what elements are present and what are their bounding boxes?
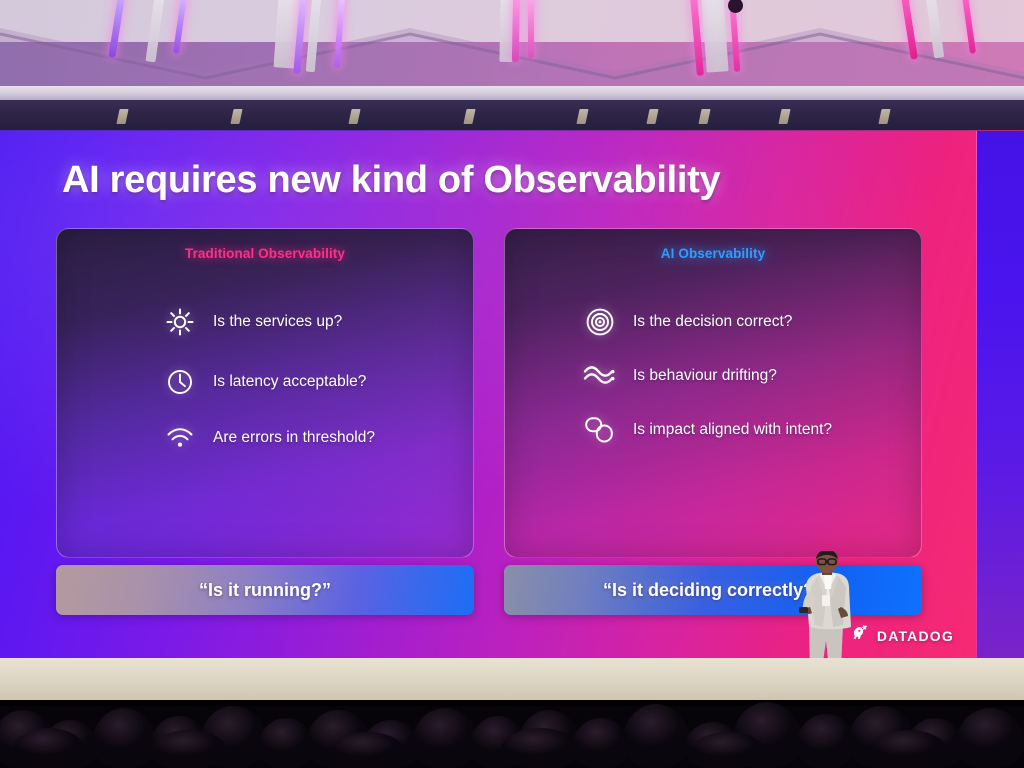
divider-slat (348, 109, 360, 124)
divider-slat (778, 109, 790, 124)
clock-icon (163, 365, 197, 399)
panel-traditional-observability: Traditional Observability Is the service… (56, 228, 474, 558)
conference-photo: AI requires new kind of Observability Tr… (0, 0, 1024, 768)
wall-right-of-screen (976, 131, 1024, 662)
slide-title: AI requires new kind of Observability (62, 159, 922, 202)
bullseye-target-icon (583, 305, 617, 339)
sun-gear-icon (163, 305, 197, 339)
list-item: Is the services up? (163, 305, 474, 339)
list-item: Is behaviour drifting? (583, 359, 922, 393)
list-item-label: Is impact aligned with intent? (633, 420, 832, 440)
list-item: Is impact aligned with intent? (583, 413, 922, 447)
list-item: Is the decision correct? (583, 305, 922, 339)
divider-slat (463, 109, 475, 124)
banner-traditional: “Is it running?” (56, 565, 474, 615)
divider-slat (698, 109, 710, 124)
ceiling-light-tube (528, 0, 534, 58)
list-item-label: Is the decision correct? (633, 312, 792, 332)
panel-heading-ai: AI Observability (505, 246, 921, 261)
panels-row: Traditional Observability Is the service… (56, 228, 922, 558)
wifi-signal-icon (163, 421, 197, 455)
divider-slat (646, 109, 658, 124)
overlapping-shapes-icon (583, 413, 617, 447)
datadog-wordmark: DATADOG (877, 628, 954, 644)
list-item-label: Is behaviour drifting? (633, 366, 777, 386)
divider-slat (576, 109, 588, 124)
audience-head (150, 730, 228, 768)
wavy-drift-lines-icon (583, 359, 617, 393)
audience-head (500, 728, 580, 768)
list-item-label: Is latency acceptable? (213, 372, 366, 392)
list-item-label: Is the services up? (213, 312, 342, 332)
list-item-label: Are errors in threshold? (213, 428, 375, 448)
list-item: Are errors in threshold? (163, 421, 474, 455)
ceiling-screen-divider (0, 100, 1024, 133)
speaker-presenter (779, 551, 871, 669)
audience-silhouettes (0, 672, 1024, 768)
audience-head (690, 732, 766, 768)
audience-head (870, 730, 948, 768)
panel-heading-traditional: Traditional Observability (57, 246, 473, 261)
divider-slat (878, 109, 890, 124)
list-item: Is latency acceptable? (163, 365, 474, 399)
banner-text: “Is it running?” (199, 580, 331, 601)
ceiling-light-tube (512, 0, 520, 62)
panel-ai-observability: AI Observability Is the decision correct… (504, 228, 922, 558)
audience-head (12, 728, 86, 768)
ceiling-lip (0, 86, 1024, 100)
divider-slat (116, 109, 128, 124)
audience-head (330, 732, 406, 768)
divider-slat (230, 109, 242, 124)
panel-items-ai: Is the decision correct? Is behaviour dr… (505, 305, 922, 467)
panel-items-traditional: Is the services up? Is latency acceptabl… (57, 305, 474, 477)
